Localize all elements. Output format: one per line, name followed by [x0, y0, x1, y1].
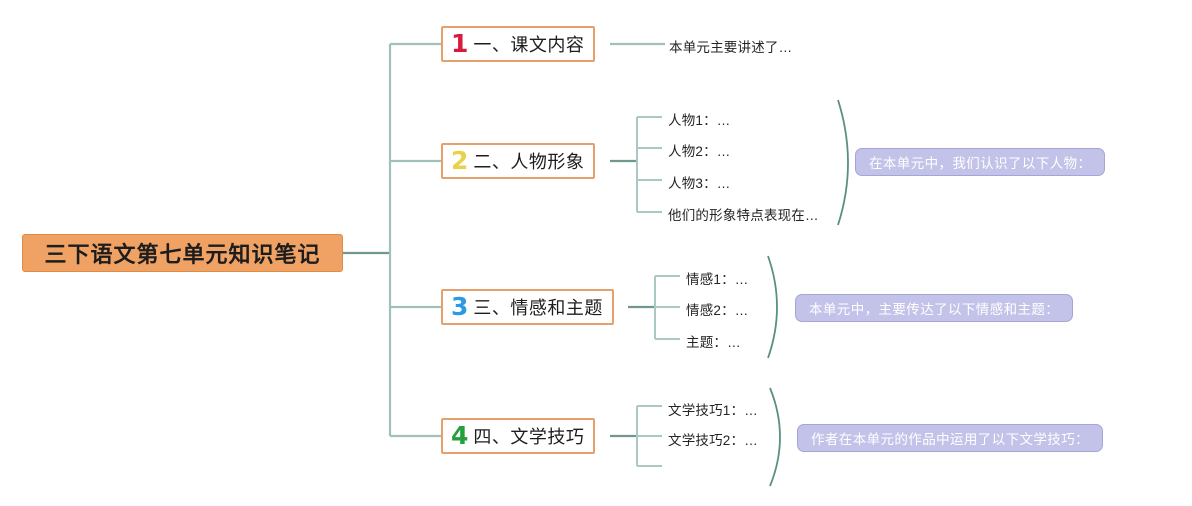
leaf-item-2-1[interactable]: 人物1：…	[668, 109, 731, 129]
leaf-item-2-3[interactable]: 人物3：…	[668, 172, 731, 192]
callout-branch-4[interactable]: 作者在本单元的作品中运用了以下文学技巧：	[797, 424, 1103, 452]
brace-arc-2	[838, 100, 848, 225]
branch-node-3[interactable]: 3 三、情感和主题	[441, 289, 614, 325]
leaf-item-3-2[interactable]: 情感2：…	[686, 299, 749, 319]
branch-number-4: 4	[451, 423, 468, 448]
branch-node-2[interactable]: 2 二、人物形象	[441, 143, 595, 179]
root-node[interactable]: 三下语文第七单元知识笔记	[22, 234, 343, 272]
branch-number-1: 1	[451, 31, 468, 56]
brace-arc-4	[770, 388, 780, 486]
branch-number-2: 2	[451, 148, 468, 173]
leaf-item-4-1[interactable]: 文学技巧1：…	[668, 399, 758, 419]
root-node-label: 三下语文第七单元知识笔记	[44, 237, 320, 269]
callout-branch-3[interactable]: 本单元中，主要传达了以下情感和主题：	[795, 294, 1073, 322]
leaf-item-3-1[interactable]: 情感1：…	[686, 268, 749, 288]
branch-label-4: 四、文学技巧	[473, 423, 584, 449]
branch-number-3: 3	[451, 294, 468, 319]
branch-node-4[interactable]: 4 四、文学技巧	[441, 418, 595, 454]
leaf-item-2-2[interactable]: 人物2：…	[668, 140, 731, 160]
leaf-item-3-3[interactable]: 主题：…	[686, 331, 741, 351]
branch-node-1[interactable]: 1 一、课文内容	[441, 26, 595, 62]
mindmap-canvas: 三下语文第七单元知识笔记 1 一、课文内容 本单元主要讲述了… 2 二、人物形象…	[0, 0, 1192, 506]
branch-label-1: 一、课文内容	[473, 31, 584, 57]
leaf-item-1-1[interactable]: 本单元主要讲述了…	[669, 36, 792, 56]
brace-arc-3	[768, 256, 777, 358]
leaf-item-2-4[interactable]: 他们的形象特点表现在…	[668, 204, 819, 224]
branch-label-3: 三、情感和主题	[473, 294, 603, 320]
leaf-item-4-2[interactable]: 文学技巧2：…	[668, 429, 758, 449]
callout-branch-2[interactable]: 在本单元中，我们认识了以下人物：	[855, 148, 1105, 176]
branch-label-2: 二、人物形象	[473, 148, 584, 174]
